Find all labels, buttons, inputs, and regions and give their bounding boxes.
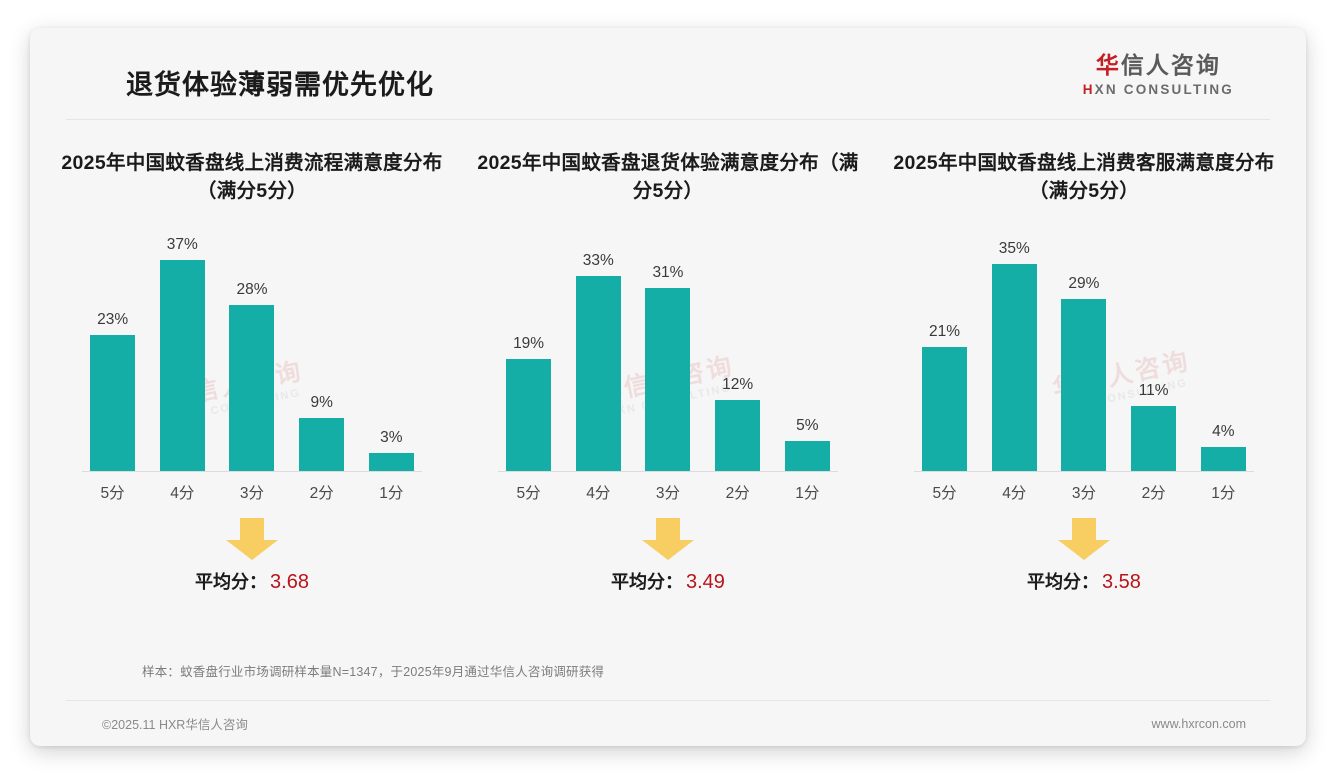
- bar-column[interactable]: 33%: [568, 236, 629, 471]
- bars-group-3: 21% 35% 29% 11%: [914, 236, 1254, 472]
- bar-column[interactable]: 3%: [361, 236, 422, 471]
- bar[interactable]: [645, 288, 690, 471]
- charts-row: 2025年中国蚊香盘线上消费流程满意度分布（满分5分） 华信人咨询 HXN CO…: [30, 150, 1306, 610]
- logo-english-rest: XN CONSULTING: [1095, 82, 1234, 97]
- chart-plot-3: 华信人咨询 HXN CONSULTING 21% 35% 29%: [888, 236, 1280, 498]
- bar-value-label: 3%: [380, 429, 402, 447]
- bar-column[interactable]: 19%: [498, 236, 559, 471]
- logo-chinese-rest: 信人咨询: [1121, 52, 1221, 78]
- chart-panel-2: 2025年中国蚊香盘退货体验满意度分布（满分5分） 华信人咨询 HXN CONS…: [460, 150, 876, 610]
- average-label: 平均分：: [195, 572, 267, 592]
- bar[interactable]: [506, 359, 551, 471]
- bar-value-label: 33%: [583, 252, 614, 270]
- x-tick: 5分: [82, 481, 143, 503]
- logo-chinese: 华信人咨询: [1083, 54, 1234, 77]
- chart-title-3: 2025年中国蚊香盘线上消费客服满意度分布（满分5分）: [888, 150, 1280, 208]
- bar-column[interactable]: 5%: [777, 236, 838, 471]
- bar[interactable]: [715, 400, 760, 471]
- bar[interactable]: [576, 276, 621, 471]
- chart-title-2: 2025年中国蚊香盘退货体验满意度分布（满分5分）: [472, 150, 864, 208]
- bar[interactable]: [785, 441, 830, 471]
- brand-logo: 华信人咨询 HXN CONSULTING: [1083, 54, 1234, 97]
- bar-column[interactable]: 23%: [82, 236, 143, 471]
- x-tick: 5分: [498, 481, 559, 503]
- bar-column[interactable]: 29%: [1053, 236, 1114, 471]
- bar-value-label: 29%: [1068, 275, 1099, 293]
- bar-value-label: 9%: [310, 394, 332, 412]
- average-block-3: 平均分：3.58: [888, 518, 1280, 610]
- average-value: 3.68: [270, 571, 309, 593]
- average-block-1: 平均分：3.68: [56, 518, 448, 610]
- bars-group-2: 19% 33% 31% 12%: [498, 236, 838, 472]
- bar-value-label: 35%: [999, 240, 1030, 258]
- x-tick: 4分: [984, 481, 1045, 503]
- chart-plot-2: 华信人咨询 HXN CONSULTING 19% 33% 31%: [472, 236, 864, 498]
- down-arrow-icon: [640, 518, 696, 560]
- bar[interactable]: [1061, 299, 1106, 471]
- chart-plot-1: 华信人咨询 HXN CONSULTING 23% 37% 28%: [56, 236, 448, 498]
- x-tick: 2分: [1123, 481, 1184, 503]
- x-tick: 1分: [1193, 481, 1254, 503]
- footer-website[interactable]: www.hxrcon.com: [1152, 717, 1270, 731]
- x-tick: 3分: [1053, 481, 1114, 503]
- bar-column[interactable]: 28%: [221, 236, 282, 471]
- x-tick: 3分: [637, 481, 698, 503]
- bar[interactable]: [299, 418, 344, 471]
- bar-value-label: 4%: [1212, 423, 1234, 441]
- bar-value-label: 37%: [167, 236, 198, 254]
- average-score-2: 平均分：3.49: [611, 568, 725, 594]
- bar[interactable]: [160, 260, 205, 471]
- x-tick: 1分: [777, 481, 838, 503]
- footer-copyright: ©2025.11 HXR华信人咨询: [66, 714, 248, 733]
- average-value: 3.58: [1102, 571, 1141, 593]
- bar-column[interactable]: 35%: [984, 236, 1045, 471]
- bars-group-1: 23% 37% 28% 9%: [82, 236, 422, 472]
- logo-english-accent: H: [1083, 82, 1095, 97]
- bar-column[interactable]: 31%: [637, 236, 698, 471]
- bar-value-label: 12%: [722, 376, 753, 394]
- logo-english: HXN CONSULTING: [1083, 83, 1234, 97]
- x-axis-2: 5分 4分 3分 2分 1分: [498, 481, 838, 503]
- x-tick: 3分: [221, 481, 282, 503]
- bar-value-label: 19%: [513, 335, 544, 353]
- bar-value-label: 28%: [236, 281, 267, 299]
- x-tick: 1分: [361, 481, 422, 503]
- logo-chinese-accent: 华: [1096, 52, 1121, 78]
- x-tick: 2分: [291, 481, 352, 503]
- bar[interactable]: [1201, 447, 1246, 471]
- x-tick: 4分: [152, 481, 213, 503]
- bar-column[interactable]: 21%: [914, 236, 975, 471]
- down-arrow-icon: [224, 518, 280, 560]
- average-score-1: 平均分：3.68: [195, 568, 309, 594]
- bar-column[interactable]: 37%: [152, 236, 213, 471]
- bar[interactable]: [992, 264, 1037, 471]
- bar[interactable]: [229, 305, 274, 471]
- average-label: 平均分：: [1027, 572, 1099, 592]
- bar-column[interactable]: 4%: [1193, 236, 1254, 471]
- chart-title-1: 2025年中国蚊香盘线上消费流程满意度分布（满分5分）: [56, 150, 448, 208]
- slide-header: 退货体验薄弱需优先优化 华信人咨询 HXN CONSULTING: [66, 28, 1270, 120]
- bar[interactable]: [922, 347, 967, 471]
- slide-footer: ©2025.11 HXR华信人咨询 www.hxrcon.com: [66, 700, 1270, 746]
- average-block-2: 平均分：3.49: [472, 518, 864, 610]
- slide-card: 退货体验薄弱需优先优化 华信人咨询 HXN CONSULTING 2025年中国…: [30, 28, 1306, 746]
- average-score-3: 平均分：3.58: [1027, 568, 1141, 594]
- chart-panel-1: 2025年中国蚊香盘线上消费流程满意度分布（满分5分） 华信人咨询 HXN CO…: [44, 150, 460, 610]
- x-axis-1: 5分 4分 3分 2分 1分: [82, 481, 422, 503]
- bar-column[interactable]: 12%: [707, 236, 768, 471]
- bar-value-label: 23%: [97, 311, 128, 329]
- x-tick: 2分: [707, 481, 768, 503]
- sample-footnote: 样本：蚊香盘行业市场调研样本量N=1347，于2025年9月通过华信人咨询调研获…: [142, 661, 604, 680]
- x-tick: 5分: [914, 481, 975, 503]
- bar[interactable]: [1131, 406, 1176, 471]
- bar-value-label: 21%: [929, 323, 960, 341]
- average-label: 平均分：: [611, 572, 683, 592]
- bar-column[interactable]: 9%: [291, 236, 352, 471]
- chart-panel-3: 2025年中国蚊香盘线上消费客服满意度分布（满分5分） 华信人咨询 HXN CO…: [876, 150, 1292, 610]
- x-tick: 4分: [568, 481, 629, 503]
- bar[interactable]: [369, 453, 414, 471]
- average-value: 3.49: [686, 571, 725, 593]
- x-axis-3: 5分 4分 3分 2分 1分: [914, 481, 1254, 503]
- bar-column[interactable]: 11%: [1123, 236, 1184, 471]
- page-title: 退货体验薄弱需优先优化: [126, 63, 434, 102]
- bar[interactable]: [90, 335, 135, 471]
- bar-value-label: 31%: [652, 264, 683, 282]
- bar-value-label: 11%: [1139, 382, 1169, 400]
- down-arrow-icon: [1056, 518, 1112, 560]
- bar-value-label: 5%: [796, 417, 818, 435]
